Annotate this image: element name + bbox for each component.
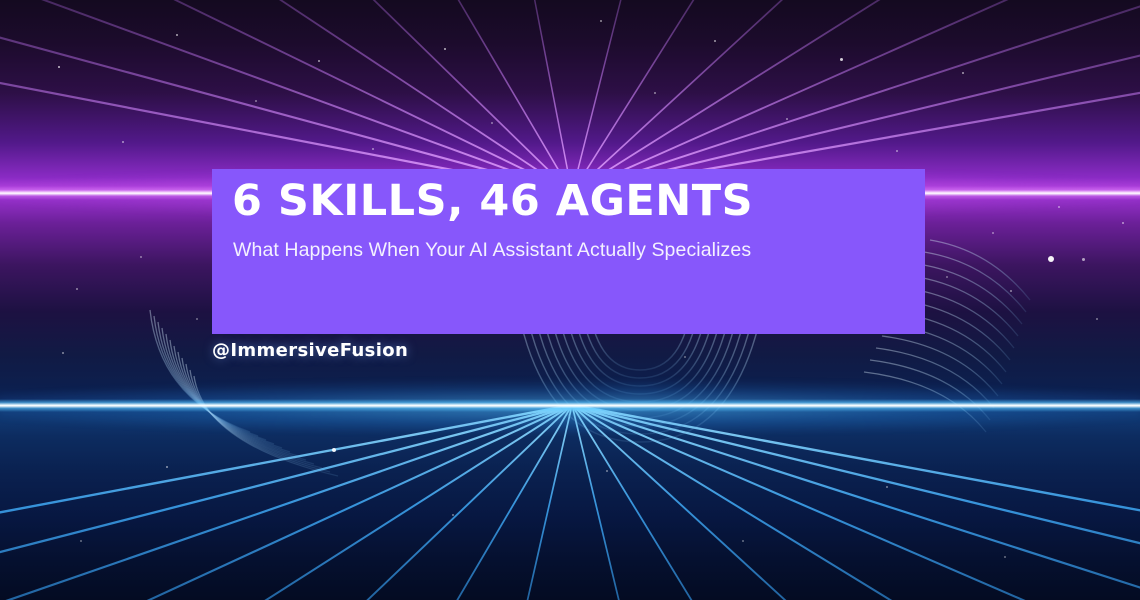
bottom-perspective-grid bbox=[0, 405, 1140, 600]
synthwave-banner: 6 SKILLS, 46 AGENTS What Happens When Yo… bbox=[0, 0, 1140, 600]
author-handle: @ImmersiveFusion bbox=[212, 340, 408, 361]
top-perspective-grid bbox=[0, 0, 1140, 193]
page-subtitle: What Happens When Your AI Assistant Actu… bbox=[233, 239, 751, 262]
page-title: 6 SKILLS, 46 AGENTS bbox=[232, 177, 753, 226]
title-card: 6 SKILLS, 46 AGENTS What Happens When Yo… bbox=[212, 169, 925, 334]
